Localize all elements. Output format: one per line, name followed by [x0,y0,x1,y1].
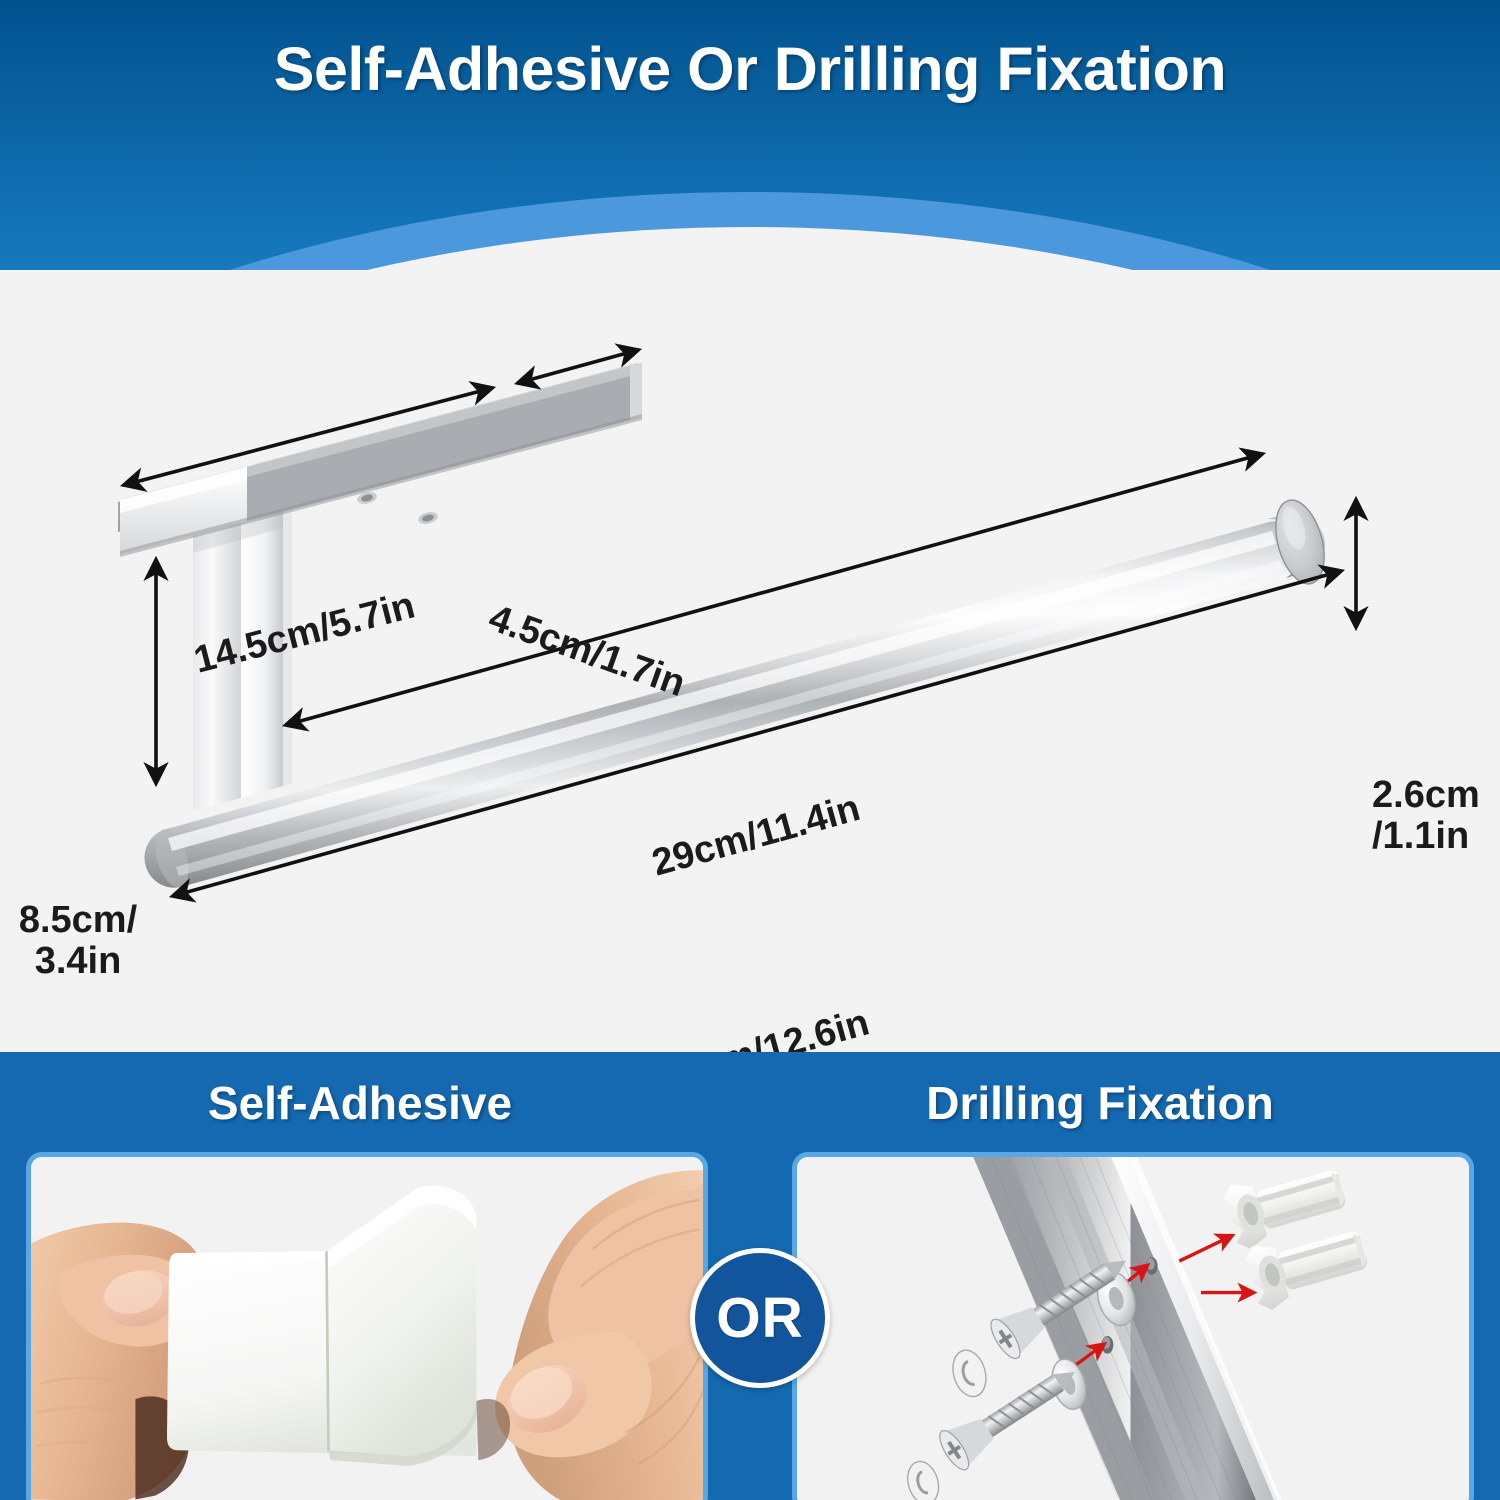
or-badge: OR [690,1248,830,1388]
self-adhesive-photo-panel [26,1152,708,1500]
dim-label-bracket-height: 8.5cm/ 3.4in [8,900,148,982]
screws-anchors-washers-exploded-diagram [797,1157,1469,1500]
dim-bracket-height-line1: 8.5cm/ [8,900,148,941]
page-title: Self-Adhesive Or Drilling Fixation [0,34,1500,104]
or-badge-label: OR [716,1285,804,1351]
screw-holes [356,490,439,526]
hands-peeling-adhesive-backing-photo [31,1157,703,1500]
bracket-plate [120,363,642,557]
drilling-fixation-heading: Drilling Fixation [740,1076,1460,1130]
product-dimension-diagram: 14.5cm/5.7in 4.5cm/1.7in 8.5cm/ 3.4in 29… [0,270,1500,1052]
dim-bar-diameter-line1: 2.6cm [1372,775,1480,816]
drilling-fixation-photo-panel [792,1152,1474,1500]
self-adhesive-heading: Self-Adhesive [0,1076,720,1130]
dim-bar-diameter-line2: /1.1in [1372,816,1480,857]
dim-label-bar-diameter: 2.6cm /1.1in [1372,775,1480,857]
header-banner: Self-Adhesive Or Drilling Fixation [0,0,1500,300]
dim-bracket-height-line2: 3.4in [8,941,148,982]
